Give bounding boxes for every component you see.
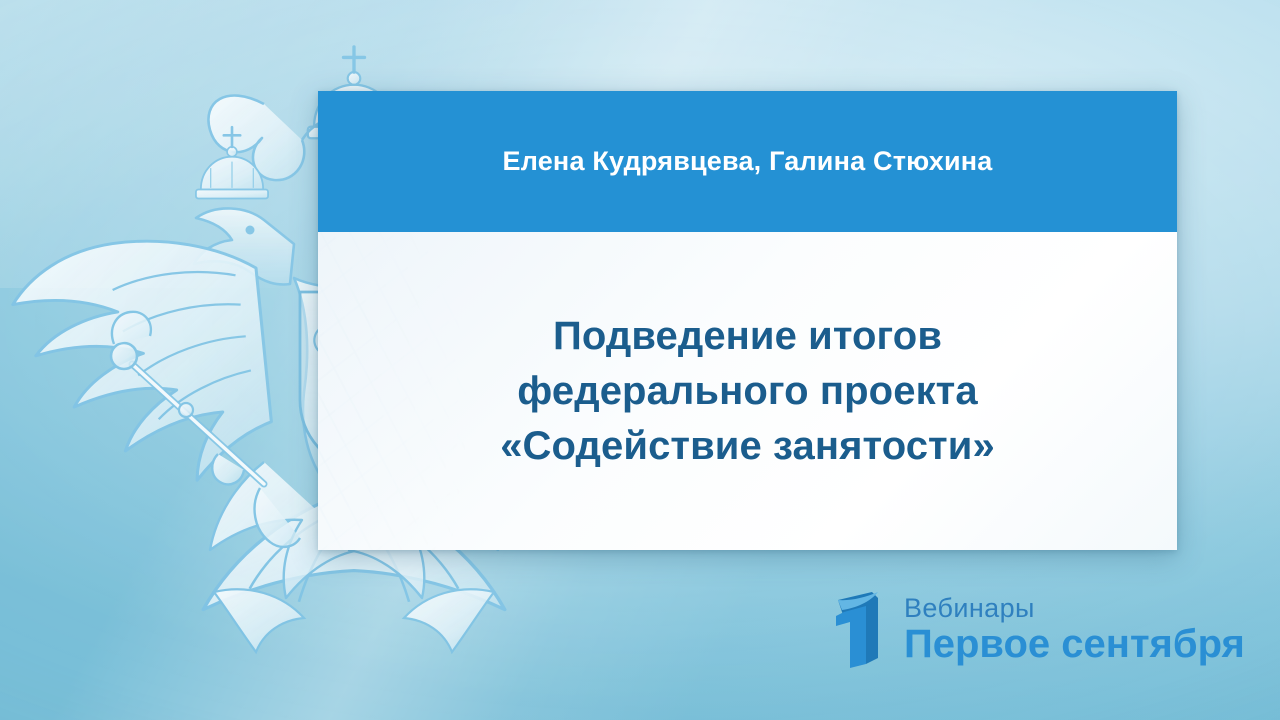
brand-logo-line-1: Вебинары	[904, 595, 1245, 622]
page-title: Подведение итогов федерального проекта «…	[460, 309, 1035, 474]
page-title-line-2: федерального проекта	[500, 364, 995, 419]
slide-canvas: Елена Кудрявцева, Галина Стюхина Подведе…	[0, 0, 1280, 720]
page-title-line-3: «Содействие занятости»	[500, 419, 995, 474]
presenter-names: Елена Кудрявцева, Галина Стюхина	[503, 145, 993, 177]
slide-card: Елена Кудрявцева, Галина Стюхина Подведе…	[318, 91, 1177, 550]
page-title-line-1: Подведение итогов	[500, 309, 995, 364]
brand-logo: Вебинары Первое сентября	[826, 588, 1245, 670]
slide-title-area: Подведение итогов федерального проекта «…	[318, 232, 1177, 550]
presenters-bar: Елена Кудрявцева, Галина Стюхина	[318, 91, 1177, 232]
book-numeral-one-icon	[826, 588, 888, 670]
brand-logo-text: Вебинары Первое сентября	[904, 595, 1245, 664]
brand-logo-line-2: Первое сентября	[904, 624, 1245, 664]
